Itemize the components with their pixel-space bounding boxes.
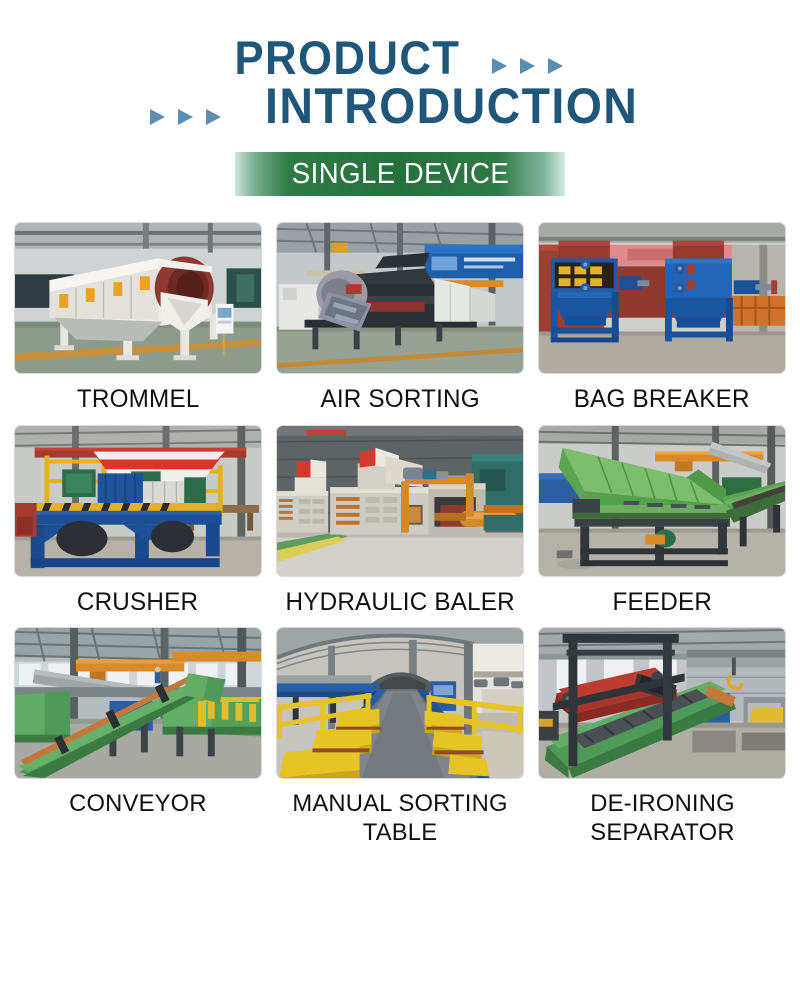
page-header: PRODUCT INTRODUCTION (0, 0, 800, 130)
section-banner-wrap: SINGLE DEVICE (0, 152, 800, 196)
arrow-group-left (148, 106, 232, 128)
product-caption: HYDRAULIC BALER (283, 577, 516, 624)
product-cell[interactable]: TROMMEL (14, 222, 262, 421)
air-sorting-photo[interactable] (276, 222, 524, 374)
conveyor-photo[interactable] (14, 627, 262, 779)
product-caption: BAG BREAKER (572, 374, 752, 421)
product-caption: CONVEYOR (67, 779, 208, 825)
product-caption: MANUAL SORTINGTABLE (290, 779, 509, 854)
arrow-group-right (490, 55, 574, 77)
caption-line-2: TABLE (363, 819, 437, 846)
product-cell[interactable]: FEEDER (538, 425, 786, 624)
product-caption: AIR SORTING (318, 374, 481, 421)
de-ironing-separator-photo[interactable] (538, 627, 786, 779)
product-cell[interactable]: CRUSHER (14, 425, 262, 624)
caption-line-1: MANUAL SORTING (292, 790, 507, 817)
crusher-photo[interactable] (14, 425, 262, 577)
product-caption: CRUSHER (75, 577, 200, 624)
product-caption: DE-IRONINGSEPARATOR (588, 779, 736, 854)
page-title-line-1: PRODUCT (0, 34, 800, 82)
page-subtitle: INTRODUCTION (265, 82, 638, 130)
product-cell[interactable]: HYDRAULIC BALER (276, 425, 524, 624)
product-cell[interactable]: DE-IRONINGSEPARATOR (538, 627, 786, 854)
manual-sorting-table-photo[interactable] (276, 627, 524, 779)
triangle-right-icon (148, 106, 232, 128)
feeder-photo[interactable] (538, 425, 786, 577)
trommel-photo[interactable] (14, 222, 262, 374)
triangle-right-icon (490, 55, 574, 77)
caption-line-2: SEPARATOR (590, 819, 734, 846)
product-caption: TROMMEL (75, 374, 201, 421)
product-cell[interactable]: MANUAL SORTINGTABLE (276, 627, 524, 854)
section-banner: SINGLE DEVICE (235, 152, 565, 196)
product-caption: FEEDER (610, 577, 713, 624)
caption-line-1: DE-IRONING (590, 790, 735, 817)
product-cell[interactable]: AIR SORTING (276, 222, 524, 421)
product-cell[interactable]: BAG BREAKER (538, 222, 786, 421)
page-title-line-2: INTRODUCTION (0, 82, 800, 130)
product-cell[interactable]: CONVEYOR (14, 627, 262, 854)
product-grid: TROMMEL (0, 222, 800, 854)
bag-breaker-photo[interactable] (538, 222, 786, 374)
page-title: PRODUCT (235, 34, 461, 82)
section-banner-label: SINGLE DEVICE (291, 158, 508, 191)
hydraulic-baler-photo[interactable] (276, 425, 524, 577)
